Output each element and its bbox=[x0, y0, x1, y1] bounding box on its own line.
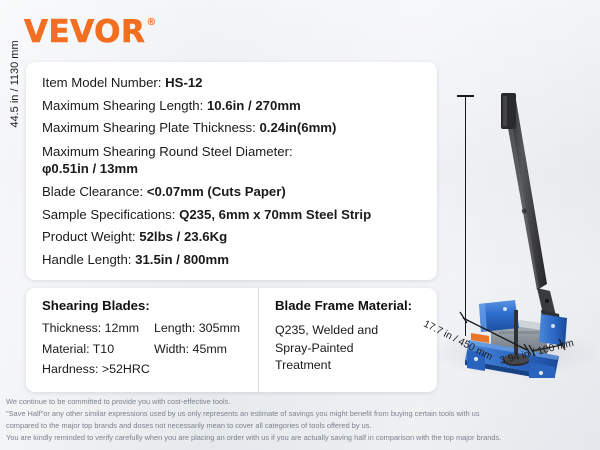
spec-row: Maximum Shearing Round Steel Diameter:φ0… bbox=[42, 144, 437, 178]
blade-spec-row: Hardness: >52HRC bbox=[42, 363, 258, 375]
specification-card: Item Model Number: HS-12Maximum Shearing… bbox=[26, 62, 437, 280]
disclaimer-line: You are kindly reminded to verify carefu… bbox=[6, 432, 598, 444]
spec-label: Maximum Shearing Round Steel Diameter: bbox=[42, 144, 293, 159]
spec-value: φ0.51in / 13mm bbox=[42, 161, 437, 178]
spec-label: Sample Specifications: bbox=[42, 207, 179, 222]
detail-card: Shearing Blades: Thickness: 12mmLength: … bbox=[26, 288, 437, 392]
registered-trademark-icon: ® bbox=[146, 18, 156, 28]
frame-material-line: Treatment bbox=[275, 357, 437, 375]
blade-spec-left: Thickness: 12mm bbox=[42, 322, 154, 334]
spec-label: Blade Clearance: bbox=[42, 184, 147, 199]
spec-value: Q235, 6mm x 70mm Steel Strip bbox=[179, 207, 371, 222]
spec-label: Maximum Shearing Length: bbox=[42, 98, 207, 113]
blade-frame-material-lines: Q235, Welded andSpray-PaintedTreatment bbox=[275, 322, 437, 375]
blade-spec-right: Length: 305mm bbox=[154, 322, 240, 334]
dimension-height-label: 44.5 in / 1130 mm bbox=[9, 36, 21, 132]
spec-value: 52lbs / 23.6Kg bbox=[139, 229, 227, 244]
spec-value: HS-12 bbox=[165, 75, 202, 90]
spec-label: Item Model Number: bbox=[42, 75, 165, 90]
spec-row: Sample Specifications: Q235, 6mm x 70mm … bbox=[42, 208, 437, 221]
spec-row: Maximum Shearing Length: 10.6in / 270mm bbox=[42, 99, 437, 112]
blade-frame-material-title: Blade Frame Material: bbox=[275, 299, 437, 312]
spec-label: Handle Length: bbox=[42, 252, 135, 267]
disclaimer-text: We continue to be committed to provide y… bbox=[6, 396, 598, 444]
blade-frame-material-section: Blade Frame Material: Q235, Welded andSp… bbox=[258, 288, 437, 392]
spec-row: Handle Length: 31.5in / 800mm bbox=[42, 253, 437, 266]
disclaimer-line: "Save Half"or any other similar expressi… bbox=[6, 408, 598, 420]
vevor-logo: VEVOR ® bbox=[24, 17, 156, 48]
spec-label: Product Weight: bbox=[42, 229, 139, 244]
spec-value: <0.07mm (Cuts Paper) bbox=[147, 184, 286, 199]
product-spec-infographic: VEVOR ® Item Model Number: HS-12Maximum … bbox=[0, 0, 600, 450]
shearing-blades-title: Shearing Blades: bbox=[42, 299, 258, 312]
spec-label: Maximum Shearing Plate Thickness: bbox=[42, 120, 259, 135]
brand-wordmark: VEVOR bbox=[24, 17, 145, 48]
spec-value: 0.24in(6mm) bbox=[259, 120, 336, 135]
frame-material-line: Spray-Painted bbox=[275, 340, 437, 358]
spec-row: Maximum Shearing Plate Thickness: 0.24in… bbox=[42, 121, 437, 134]
spec-row: Blade Clearance: <0.07mm (Cuts Paper) bbox=[42, 185, 437, 198]
spec-row: Item Model Number: HS-12 bbox=[42, 76, 437, 89]
specification-list: Item Model Number: HS-12Maximum Shearing… bbox=[26, 62, 437, 266]
spec-value: 10.6in / 270mm bbox=[207, 98, 301, 113]
frame-material-line: Q235, Welded and bbox=[275, 322, 437, 340]
blade-spec-left: Hardness: >52HRC bbox=[42, 363, 154, 375]
disclaimer-line: We continue to be committed to provide y… bbox=[6, 396, 598, 408]
spec-row: Product Weight: 52lbs / 23.6Kg bbox=[42, 230, 437, 243]
blade-spec-left: Material: T10 bbox=[42, 343, 154, 355]
blade-spec-right: Width: 45mm bbox=[154, 343, 227, 355]
blade-spec-row: Material: T10Width: 45mm bbox=[42, 343, 258, 355]
disclaimer-line: compared to the major top brands and dos… bbox=[6, 420, 598, 432]
shearing-blades-section: Shearing Blades: Thickness: 12mmLength: … bbox=[26, 288, 258, 392]
shear-handle bbox=[501, 93, 547, 290]
spec-value: 31.5in / 800mm bbox=[135, 252, 229, 267]
blade-spec-row: Thickness: 12mmLength: 305mm bbox=[42, 322, 258, 334]
shearing-blades-rows: Thickness: 12mmLength: 305mmMaterial: T1… bbox=[42, 322, 258, 375]
